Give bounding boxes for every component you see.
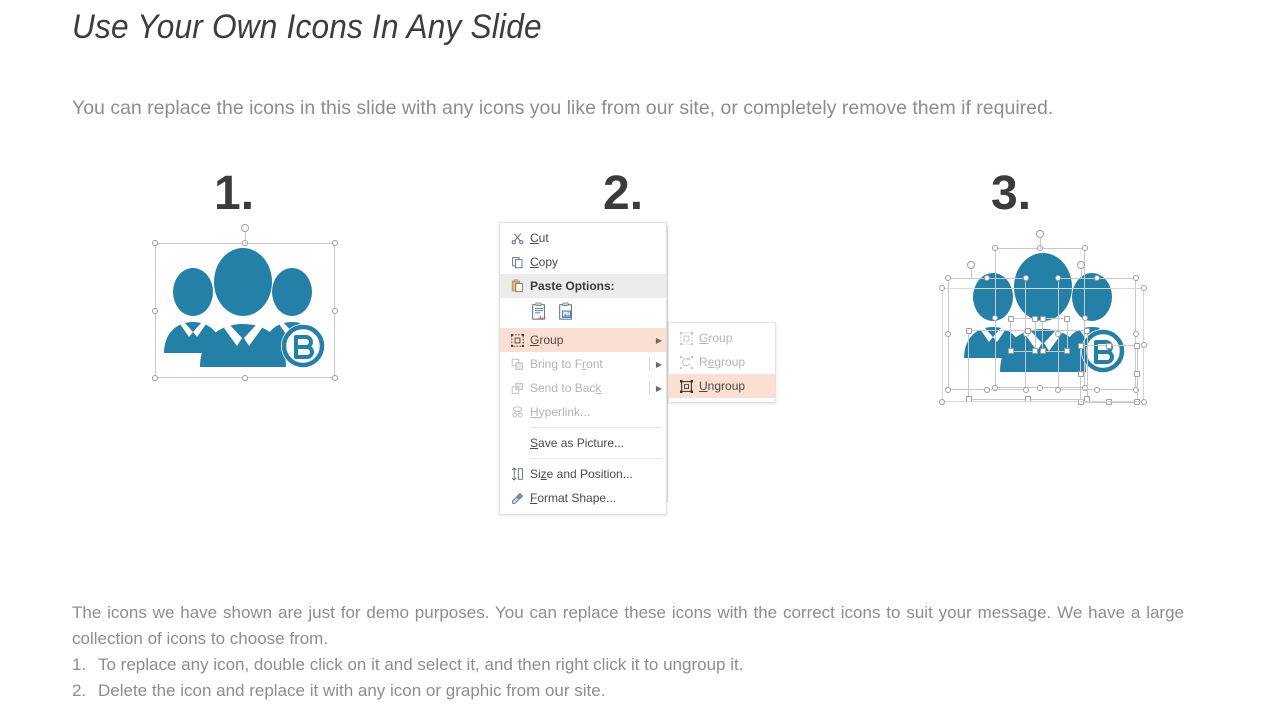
step-number-1: 1. [214,170,254,218]
page-title: Use Your Own Icons In Any Slide [72,8,542,47]
menu-item-label: Ungroup [699,379,775,393]
list-item-text: Delete the icon and replace it with any … [98,678,605,704]
selection-box-outer-group[interactable] [942,288,1144,402]
list-item-number: 2. [72,678,98,704]
list-item-text: To replace any icon, double click on it … [98,652,743,678]
group-icon [673,332,699,345]
menu-item-size-and-position[interactable]: Size and Position... [500,462,666,486]
intro-paragraph: You can replace the icons in this slide … [72,95,1184,122]
menu-item-copy[interactable]: Copy [500,250,666,274]
format-shape-icon [504,492,530,505]
ungroup-icon [673,380,699,393]
menu-item-send-to-back[interactable]: Send to Back ▶ [500,376,666,400]
paste-icon [504,279,530,293]
group-icon [504,334,530,347]
hyperlink-icon [504,406,530,419]
selection-handle-bl[interactable] [152,375,158,381]
menu-item-label: Copy [530,255,666,269]
submenu-item-regroup[interactable]: Regroup [669,350,775,374]
menu-item-label: Format Shape... [530,491,666,505]
menu-item-label: Paste Options: [530,279,666,293]
scissors-icon [504,232,530,245]
menu-item-group[interactable]: Group ▶ [500,328,666,352]
send-to-back-icon [504,382,530,395]
footer-list: 1. To replace any icon, double click on … [72,652,1184,704]
footer-text-block: The icons we have shown are just for dem… [72,600,1184,704]
menu-item-hyperlink[interactable]: Hyperlink... [500,400,666,424]
paste-picture-icon[interactable] [557,302,575,324]
menu-item-label: Size and Position... [530,467,666,481]
paste-options-icons[interactable]: a [500,298,666,328]
submenu-item-ungroup[interactable]: Ungroup [669,374,775,398]
rotation-stem [245,232,246,244]
selection-handle-br[interactable] [332,375,338,381]
menu-item-label: Bring to Front [530,357,652,371]
menu-item-label: Group [699,331,775,345]
chevron-right-icon: ▶ [652,360,666,369]
step-number-3: 3. [991,170,1031,218]
context-menu[interactable]: Cut Copy Paste Options: [499,222,667,515]
menu-separator [649,358,650,370]
size-position-icon [504,467,530,481]
selection-handle-tr[interactable] [332,240,338,246]
list-item-number: 1. [72,652,98,678]
menu-item-bring-to-front[interactable]: Bring to Front ▶ [500,352,666,376]
list-item: 2. Delete the icon and replace it with a… [72,678,1184,704]
bring-to-front-icon [504,358,530,371]
menu-item-label: Regroup [699,355,775,369]
step-number-2: 2. [603,170,643,218]
chevron-right-icon: ▶ [652,336,666,345]
paste-keep-text-icon[interactable]: a [530,302,548,324]
selection-handle-mr[interactable] [332,308,338,314]
selection-handle-bc[interactable] [242,375,248,381]
menu-item-label: Group [530,333,652,347]
menu-item-format-shape[interactable]: Format Shape... [500,486,666,510]
menu-separator [649,382,650,394]
submenu-item-group[interactable]: Group [669,326,775,350]
list-item: 1. To replace any icon, double click on … [72,652,1184,678]
regroup-icon [673,356,699,369]
menu-item-label: Hyperlink... [530,405,666,419]
footer-paragraph: The icons we have shown are just for dem… [72,600,1184,652]
menu-divider [530,458,662,459]
chevron-right-icon: ▶ [652,384,666,393]
menu-item-save-as-picture[interactable]: Save as Picture... [500,431,666,455]
menu-item-label: Save as Picture... [530,436,666,450]
copy-icon [504,256,530,269]
menu-item-paste-options: Paste Options: [500,274,666,298]
menu-item-cut[interactable]: Cut [500,226,666,250]
selection-handle-tl[interactable] [152,240,158,246]
menu-item-label: Send to Back [530,381,652,395]
rotation-handle[interactable] [241,224,249,232]
menu-item-label: Cut [530,231,666,245]
selection-box-step1[interactable] [155,243,335,378]
slide-canvas: Use Your Own Icons In Any Slide You can … [0,0,1280,720]
selection-handle-ml[interactable] [152,308,158,314]
group-submenu[interactable]: Group Regroup Ungroup [668,322,776,403]
menu-divider [530,427,662,428]
